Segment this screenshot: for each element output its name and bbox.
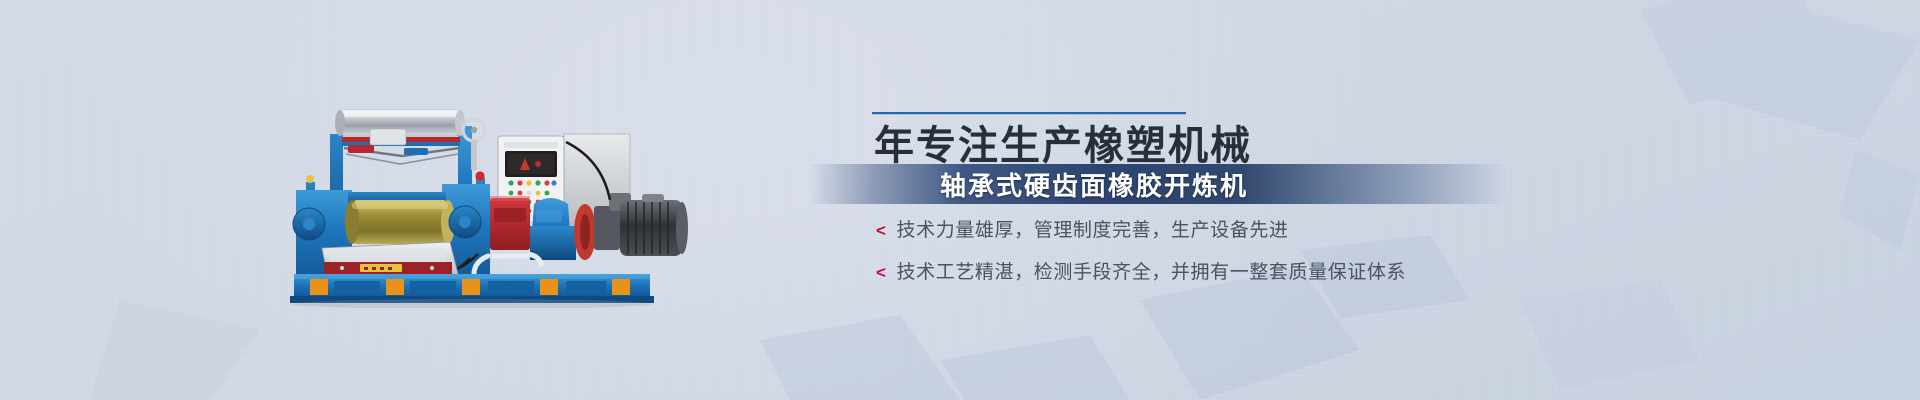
promo-banner: 年专注生产橡塑机械 轴承式硬齿面橡胶开炼机 < 技术力量雄厚，管理制度完善，生产… xyxy=(0,0,1920,400)
feature-list: < 技术力量雄厚，管理制度完善，生产设备先进 < 技术工艺精湛，检测手段齐全，并… xyxy=(876,215,1568,284)
feature-item: < 技术力量雄厚，管理制度完善，生产设备先进 xyxy=(876,215,1568,242)
feature-item: < 技术工艺精湛，检测手段齐全，并拥有一整套质量保证体系 xyxy=(876,257,1568,284)
product-photo xyxy=(282,96,702,308)
chevron-left-marker-icon: < xyxy=(876,263,887,283)
product-name-ribbon: 轴承式硬齿面橡胶开炼机 xyxy=(808,164,1508,204)
feature-text: 技术力量雄厚，管理制度完善，生产设备先进 xyxy=(897,215,1289,242)
feature-text: 技术工艺精湛，检测手段齐全，并拥有一整套质量保证体系 xyxy=(897,257,1407,284)
product-name-label: 轴承式硬齿面橡胶开炼机 xyxy=(940,166,1248,203)
banner-headline: 年专注生产橡塑机械 xyxy=(874,122,1568,169)
banner-copy-block: 年专注生产橡塑机械 轴承式硬齿面橡胶开炼机 < 技术力量雄厚，管理制度完善，生产… xyxy=(868,112,1568,299)
title-divider-rule xyxy=(872,112,1186,115)
chevron-left-marker-icon: < xyxy=(876,221,887,241)
